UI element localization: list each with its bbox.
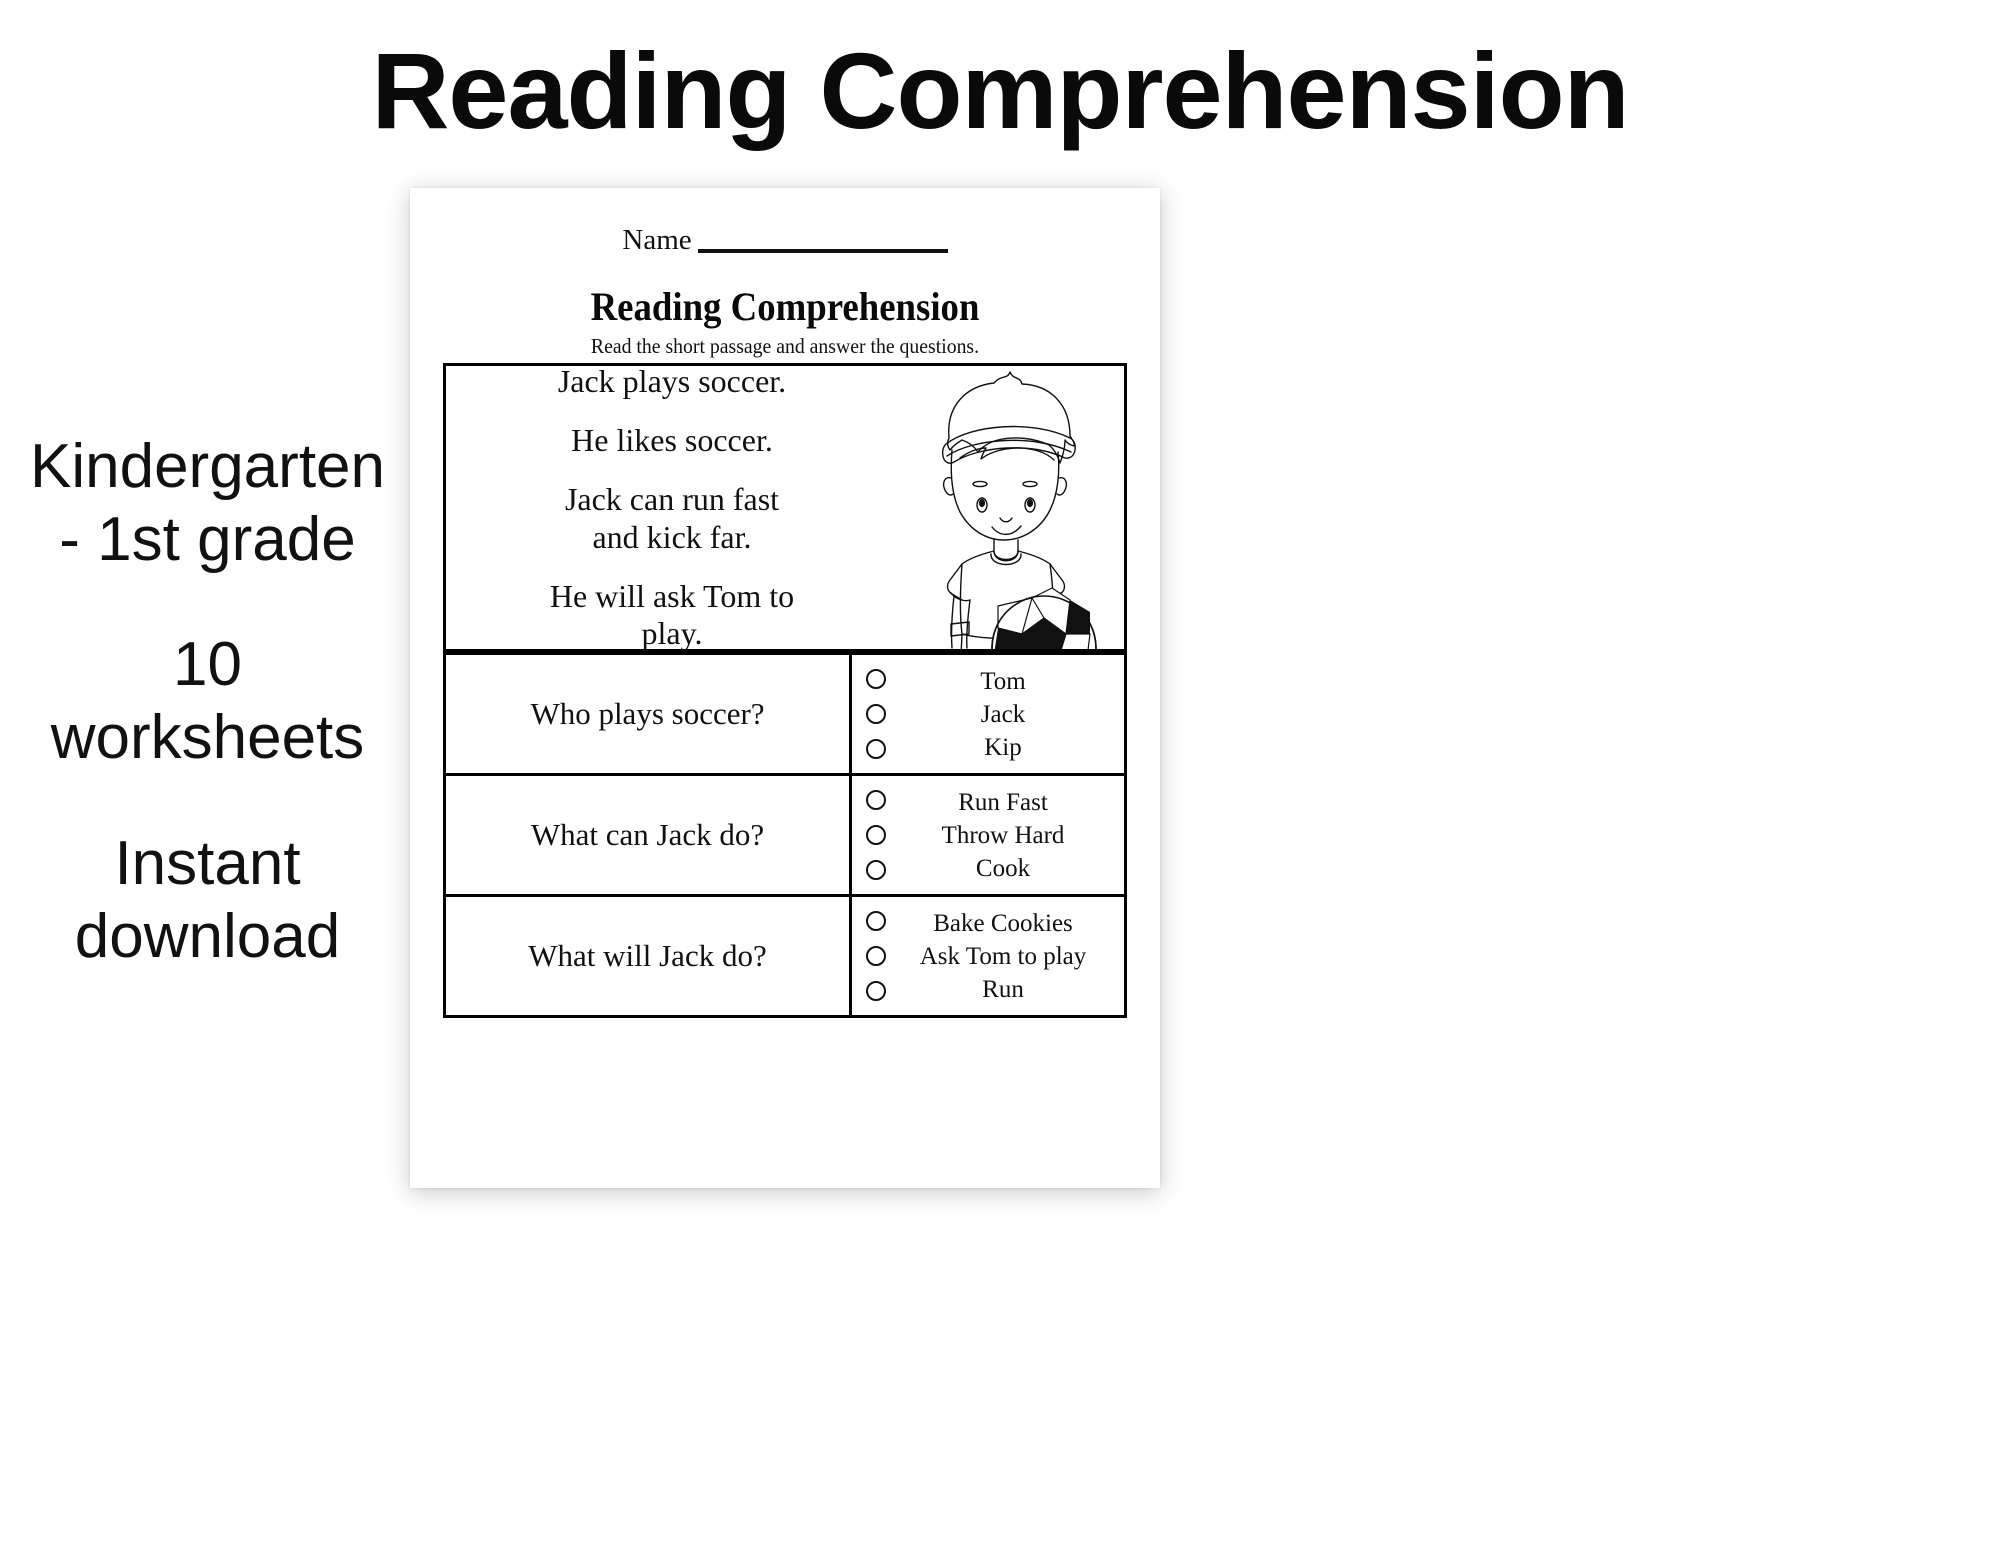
option-label: Ask Tom to play [890, 940, 1116, 973]
passage-line-3a: Jack can run fast [565, 481, 779, 517]
passage-line-1: Jack plays soccer. [558, 363, 786, 400]
question-options: Tom Jack Kip [852, 655, 1124, 773]
option-radio-circle[interactable] [866, 825, 886, 845]
worksheet-subtitle: Read the short passage and answer the qu… [433, 334, 1138, 359]
passage-text: Jack plays soccer. He likes soccer. Jack… [446, 366, 894, 649]
promo-count-line-1: 10 [0, 628, 415, 701]
option-label-group: Run Fast Throw Hard Cook [890, 786, 1116, 885]
option-radio-circle[interactable] [866, 669, 886, 689]
passage-line-4b: play. [641, 615, 702, 651]
boy-with-soccer-ball-illustration [894, 366, 1124, 649]
passage-line-2: He likes soccer. [571, 422, 773, 459]
option-label: Run Fast [890, 786, 1116, 819]
promo-item-delivery: Instant download [0, 827, 415, 973]
promo-item-worksheet-count: 10 worksheets [0, 628, 415, 774]
question-row: Who plays soccer? Tom Jack Kip [446, 652, 1124, 773]
option-label: Tom [890, 665, 1116, 698]
worksheet-table: Jack plays soccer. He likes soccer. Jack… [443, 363, 1127, 1018]
promo-feature-list: Kindergarten - 1st grade 10 worksheets I… [0, 430, 415, 973]
name-input-line[interactable] [698, 245, 948, 253]
option-radio-circle[interactable] [866, 860, 886, 880]
promo-grade-line-2: - 1st grade [0, 503, 415, 576]
question-options: Run Fast Throw Hard Cook [852, 776, 1124, 894]
passage-line-4: He will ask Tom to play. [550, 578, 794, 652]
option-label: Run [890, 973, 1116, 1006]
promo-count-line-2: worksheets [0, 701, 415, 774]
option-label: Cook [890, 852, 1116, 885]
name-field-row: Name [410, 224, 1160, 257]
option-label: Throw Hard [890, 819, 1116, 852]
passage-line-3: Jack can run fast and kick far. [565, 481, 779, 555]
option-bullet-group [866, 911, 886, 1001]
option-label: Kip [890, 731, 1116, 764]
option-label: Bake Cookies [890, 907, 1116, 940]
page-title: Reading Comprehension [0, 34, 2000, 147]
passage-line-3b: and kick far. [592, 519, 751, 555]
option-radio-circle[interactable] [866, 704, 886, 724]
question-prompt: What will Jack do? [446, 897, 852, 1015]
passage-line-4a: He will ask Tom to [550, 578, 794, 614]
promo-delivery-line-1: Instant [0, 827, 415, 900]
worksheet-title: Reading Comprehension [440, 283, 1130, 330]
option-radio-circle[interactable] [866, 981, 886, 1001]
option-label-group: Bake Cookies Ask Tom to play Run [890, 907, 1116, 1006]
option-bullet-group [866, 790, 886, 880]
question-row: What will Jack do? Bake Cookies Ask Tom … [446, 894, 1124, 1015]
option-label-group: Tom Jack Kip [890, 665, 1116, 764]
option-radio-circle[interactable] [866, 911, 886, 931]
promo-grade-line-1: Kindergarten [0, 430, 415, 503]
option-radio-circle[interactable] [866, 946, 886, 966]
question-prompt: Who plays soccer? [446, 655, 852, 773]
promo-item-grade-range: Kindergarten - 1st grade [0, 430, 415, 576]
question-prompt: What can Jack do? [446, 776, 852, 894]
worksheet-page: Name Reading Comprehension Read the shor… [410, 188, 1160, 1188]
question-row: What can Jack do? Run Fast Throw Hard Co… [446, 773, 1124, 894]
option-radio-circle[interactable] [866, 739, 886, 759]
option-radio-circle[interactable] [866, 790, 886, 810]
name-label: Name [622, 224, 691, 257]
option-label: Jack [890, 698, 1116, 731]
passage-row: Jack plays soccer. He likes soccer. Jack… [446, 366, 1124, 652]
question-options: Bake Cookies Ask Tom to play Run [852, 897, 1124, 1015]
option-bullet-group [866, 669, 886, 759]
promo-delivery-line-2: download [0, 900, 415, 973]
